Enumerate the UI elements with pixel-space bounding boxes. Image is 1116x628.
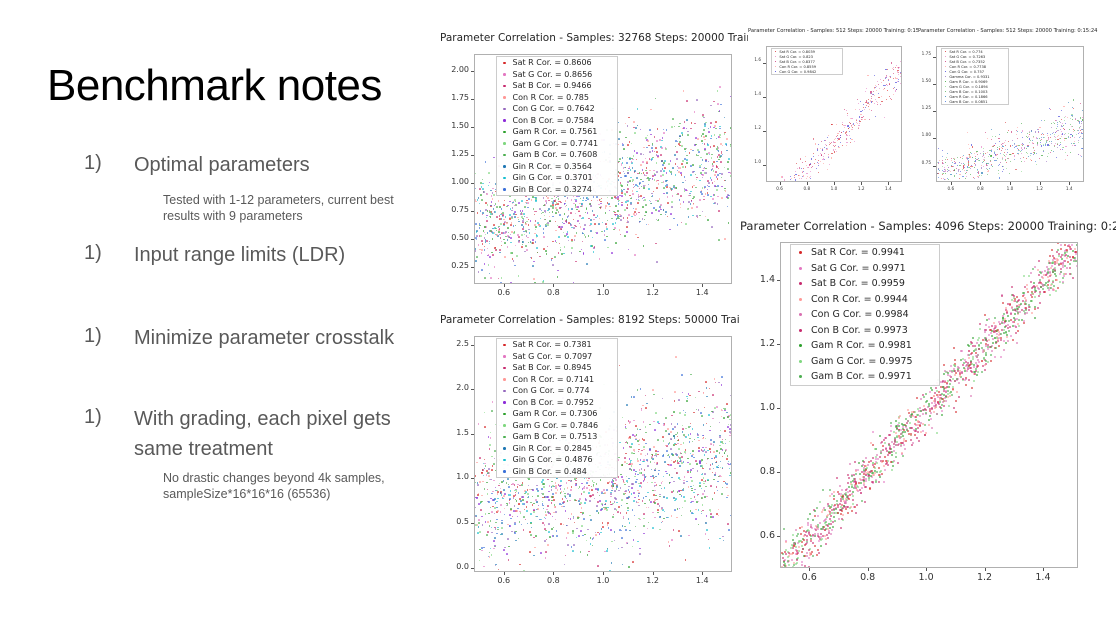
data-point (1038, 129, 1039, 130)
x-tick-label: 1.2 (639, 576, 667, 585)
data-point (509, 214, 511, 216)
data-point (603, 489, 605, 491)
data-point (478, 197, 480, 199)
y-tick-label: 1.2 (748, 125, 761, 130)
data-point (725, 450, 727, 452)
data-point (489, 556, 491, 558)
data-point (490, 507, 492, 509)
data-point (644, 215, 646, 217)
data-point (1081, 148, 1082, 149)
data-point (718, 465, 720, 467)
data-point (625, 175, 627, 177)
data-point (513, 260, 515, 262)
data-point (719, 134, 721, 136)
data-point (478, 271, 480, 273)
data-point (928, 419, 930, 421)
data-point (685, 436, 687, 438)
data-point (614, 490, 616, 492)
data-point (1051, 143, 1052, 144)
data-point (687, 462, 689, 464)
data-point (543, 236, 545, 238)
data-point (923, 405, 925, 407)
data-point (663, 193, 665, 195)
data-point (479, 227, 481, 229)
data-point (540, 218, 542, 220)
data-point (679, 167, 681, 169)
data-point (654, 499, 656, 501)
data-point (503, 223, 505, 225)
data-point (1055, 290, 1057, 292)
data-point (479, 457, 481, 459)
data-point (837, 135, 838, 136)
data-point (856, 504, 858, 506)
data-point (683, 442, 685, 444)
data-point (976, 151, 977, 152)
data-point (836, 500, 838, 502)
data-point (1074, 145, 1075, 146)
data-point (806, 535, 808, 537)
data-point (1002, 146, 1003, 147)
data-point (718, 210, 720, 212)
data-point (685, 428, 687, 430)
data-point (717, 178, 719, 180)
data-point (1036, 164, 1037, 165)
data-point (1044, 291, 1046, 293)
data-point (731, 135, 732, 137)
data-point (900, 76, 901, 77)
data-point (480, 182, 482, 184)
data-point (690, 203, 692, 205)
data-point (990, 161, 991, 162)
data-point (563, 223, 565, 225)
y-tick-label: 0.75 (440, 205, 469, 214)
legend-marker-icon (775, 56, 776, 57)
data-point (539, 519, 541, 521)
data-point (991, 164, 992, 165)
y-tick-mark (933, 84, 936, 85)
data-point (541, 213, 543, 215)
data-point (606, 489, 608, 491)
data-point (582, 241, 584, 243)
data-point (674, 154, 676, 156)
data-point (727, 455, 729, 457)
legend-label: Sat G Cor. = 0.823 (779, 55, 813, 59)
data-point (1050, 134, 1051, 135)
data-point (699, 199, 701, 201)
data-point (993, 157, 994, 158)
data-point (823, 156, 824, 157)
data-point (670, 464, 672, 466)
data-point (699, 482, 701, 484)
data-point (673, 481, 675, 483)
data-point (943, 171, 944, 172)
data-point (1041, 145, 1042, 146)
data-point (952, 389, 954, 391)
data-point (655, 412, 657, 414)
data-point (703, 199, 705, 201)
data-point (782, 176, 783, 177)
data-point (998, 345, 1000, 347)
data-point (589, 500, 591, 502)
data-point (496, 507, 498, 509)
x-tick-label: 0.6 (766, 186, 794, 191)
data-point (664, 167, 666, 169)
data-point (653, 170, 655, 172)
x-tick-label: 1.0 (996, 186, 1024, 191)
data-point (476, 239, 478, 241)
data-point (568, 215, 570, 217)
data-point (657, 462, 659, 464)
data-point (995, 347, 997, 349)
data-point (655, 147, 657, 149)
data-point (895, 90, 896, 91)
data-point (820, 161, 821, 162)
data-point (560, 207, 562, 209)
data-point (943, 163, 944, 164)
data-point (701, 474, 703, 476)
data-point (851, 510, 853, 512)
data-point (639, 472, 641, 474)
y-tick-label: 1.25 (918, 105, 931, 110)
legend-label: Con R Cor. = 0.7141 (513, 375, 595, 384)
data-point (810, 171, 811, 172)
data-point (563, 501, 565, 503)
data-point (553, 499, 555, 501)
data-point (689, 463, 691, 465)
data-point (635, 471, 637, 473)
data-point (644, 478, 646, 480)
data-point (605, 500, 607, 502)
data-point (602, 504, 604, 506)
data-point (612, 503, 614, 505)
legend-item: Sat G Cor. = 0.7097 (497, 351, 617, 363)
data-point (656, 140, 658, 142)
data-point (671, 189, 673, 191)
data-point (730, 472, 732, 474)
data-point (1077, 254, 1078, 256)
x-tick-label: 1.0 (589, 576, 617, 585)
data-point (717, 174, 719, 176)
data-point (689, 438, 691, 440)
data-point (1065, 152, 1066, 153)
data-point (678, 399, 680, 401)
data-point (509, 502, 511, 504)
data-point (598, 489, 600, 491)
data-point (575, 213, 577, 215)
data-point (643, 533, 645, 535)
data-point (662, 436, 664, 438)
data-point (651, 203, 653, 205)
data-point (524, 509, 526, 511)
data-point (650, 109, 652, 111)
legend-item: Gam B Cor. = 0.7608 (497, 149, 617, 161)
data-point (938, 163, 939, 164)
data-point (576, 232, 578, 234)
data-point (574, 522, 576, 524)
data-point (486, 193, 488, 195)
data-point (864, 501, 866, 503)
data-point (637, 541, 639, 543)
data-point (1023, 157, 1024, 158)
legend-marker-icon (503, 390, 506, 393)
data-point (673, 411, 675, 413)
data-point (690, 486, 692, 488)
data-point (604, 551, 606, 553)
data-point (713, 444, 715, 446)
data-point (482, 183, 484, 185)
data-point (1047, 133, 1048, 134)
data-point (634, 170, 636, 172)
data-point (1079, 132, 1080, 133)
data-point (629, 180, 631, 182)
data-point (997, 147, 998, 148)
data-point (560, 247, 562, 249)
data-point (503, 549, 505, 551)
data-point (706, 463, 708, 465)
x-tick-mark (1010, 182, 1011, 185)
data-point (671, 126, 673, 128)
data-point (1014, 147, 1015, 148)
data-point (954, 380, 956, 382)
data-point (639, 469, 641, 471)
data-point (1080, 103, 1081, 104)
data-point (484, 246, 486, 248)
data-point (607, 482, 609, 484)
data-point (475, 201, 477, 203)
data-point (994, 356, 996, 358)
data-point (489, 241, 491, 243)
data-point (1047, 144, 1048, 145)
data-point (709, 154, 711, 156)
data-point (623, 148, 625, 150)
data-point (702, 438, 704, 440)
data-point (1071, 143, 1072, 144)
data-point (946, 157, 947, 158)
data-point (659, 516, 661, 518)
data-point (481, 495, 483, 497)
data-point (700, 157, 702, 159)
data-point (690, 433, 692, 435)
data-point (954, 175, 955, 176)
data-point (507, 478, 509, 480)
data-point (630, 438, 632, 440)
data-point (484, 249, 486, 251)
chart-title: Parameter Correlation - Samples: 512 Ste… (918, 28, 1088, 34)
data-point (490, 437, 492, 439)
data-point (497, 498, 499, 500)
y-tick-label: 1.00 (918, 132, 931, 137)
data-point (627, 543, 629, 545)
data-point (521, 246, 523, 248)
data-point (565, 510, 567, 512)
data-point (1061, 110, 1062, 111)
data-point (484, 263, 486, 265)
data-point (635, 208, 637, 210)
data-point (651, 158, 653, 160)
data-point (645, 170, 647, 172)
data-point (817, 549, 819, 551)
data-point (631, 216, 633, 218)
data-point (679, 412, 681, 414)
data-point (1037, 142, 1038, 143)
y-tick-label: 2.0 (440, 383, 469, 392)
data-point (884, 88, 885, 89)
data-point (886, 75, 887, 76)
data-point (590, 219, 592, 221)
data-point (709, 430, 711, 432)
data-point (542, 483, 544, 485)
data-point (630, 177, 632, 179)
legend-label: Gam B Cor. = 0.7513 (513, 432, 598, 441)
y-tick-mark (471, 183, 474, 184)
data-point (579, 223, 581, 225)
data-point (622, 144, 624, 146)
data-point (1010, 145, 1011, 146)
data-point (692, 150, 694, 152)
y-tick-mark (471, 127, 474, 128)
data-point (485, 465, 487, 467)
data-point (551, 486, 553, 488)
data-point (640, 459, 642, 461)
data-point (629, 468, 631, 470)
data-point (667, 464, 669, 466)
data-point (878, 93, 879, 94)
legend-marker-icon (775, 51, 776, 52)
data-point (601, 508, 603, 510)
y-tick-label: 2.00 (440, 65, 469, 74)
legend-item: Gin G Cor. = 0.3701 (497, 172, 617, 184)
data-point (521, 496, 523, 498)
data-point (682, 160, 684, 162)
data-point (652, 458, 654, 460)
data-point (704, 186, 706, 188)
data-point (931, 389, 933, 391)
data-point (593, 214, 595, 216)
x-tick-mark (653, 572, 654, 575)
data-point (1054, 145, 1055, 146)
data-point (633, 121, 635, 123)
data-point (532, 239, 534, 241)
data-point (630, 202, 632, 204)
data-point (826, 145, 827, 146)
data-point (1011, 131, 1012, 132)
data-point (581, 483, 583, 485)
data-point (489, 444, 491, 446)
data-point (479, 188, 481, 190)
data-point (679, 123, 681, 125)
data-point (828, 154, 829, 155)
data-point (501, 522, 503, 524)
legend-label: Sat G Cor. = 0.7097 (513, 352, 593, 361)
data-point (1002, 171, 1003, 172)
data-point (663, 476, 665, 478)
data-point (1012, 339, 1014, 341)
data-point (656, 171, 658, 173)
data-point (900, 445, 902, 447)
data-point (547, 505, 549, 507)
data-point (664, 487, 666, 489)
data-point (541, 210, 543, 212)
data-point (1070, 137, 1071, 138)
data-point (1057, 287, 1059, 289)
data-point (956, 168, 957, 169)
data-point (833, 516, 835, 518)
data-point (630, 446, 632, 448)
data-point (1003, 143, 1004, 144)
data-point (1051, 123, 1052, 124)
data-point (573, 282, 575, 284)
data-point (994, 151, 995, 152)
data-point (634, 186, 636, 188)
data-point (884, 469, 886, 471)
data-point (624, 526, 626, 528)
data-point (589, 203, 591, 205)
data-point (523, 503, 525, 505)
data-point (672, 195, 674, 197)
data-point (1078, 142, 1079, 143)
data-point (977, 339, 979, 341)
data-point (981, 175, 982, 176)
data-point (611, 252, 613, 254)
data-point (887, 85, 888, 86)
data-point (718, 159, 720, 161)
data-point (805, 531, 807, 533)
data-point (619, 158, 621, 160)
data-point (580, 551, 582, 553)
data-point (646, 403, 648, 405)
data-point (479, 560, 481, 562)
data-point (590, 230, 592, 232)
data-point (983, 151, 984, 152)
legend-label: Gamma Cor. = 0.9331 (949, 75, 989, 79)
data-point (975, 160, 976, 161)
data-point (955, 400, 957, 402)
data-point (556, 530, 558, 532)
data-point (1016, 145, 1017, 146)
data-point (487, 521, 489, 523)
data-point (708, 186, 710, 188)
data-point (587, 212, 589, 214)
data-point (656, 180, 658, 182)
data-point (559, 485, 561, 487)
data-point (608, 203, 610, 205)
data-point (795, 563, 797, 565)
data-point (731, 120, 732, 122)
data-point (529, 489, 531, 491)
data-point (482, 524, 484, 526)
data-point (494, 458, 496, 460)
data-point (840, 500, 842, 502)
legend-label: Sat B Cor. = 0.8377 (779, 60, 815, 64)
data-point (1074, 130, 1075, 131)
data-point (512, 258, 514, 260)
data-point (484, 237, 486, 239)
data-point (726, 150, 728, 152)
data-point (1060, 142, 1061, 143)
data-point (536, 234, 538, 236)
data-point (962, 156, 963, 157)
data-point (725, 439, 727, 441)
legend-item: Gam G Cor. = 0.7741 (497, 138, 617, 150)
data-point (650, 134, 652, 136)
data-point (612, 516, 614, 518)
data-point (1003, 154, 1004, 155)
data-point (663, 209, 665, 211)
data-point (514, 505, 516, 507)
data-point (885, 78, 886, 79)
data-point (858, 125, 859, 126)
data-point (1041, 155, 1042, 156)
